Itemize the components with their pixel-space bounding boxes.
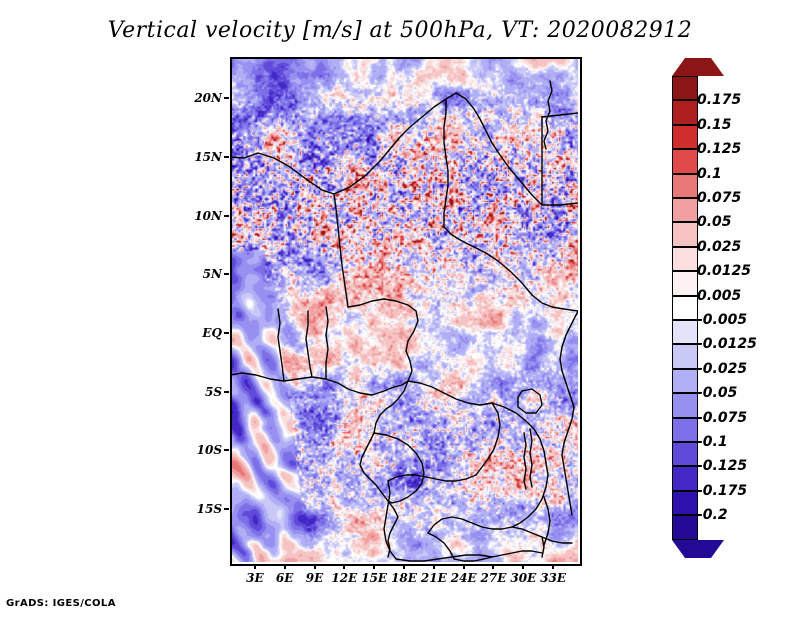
x-axis-tick xyxy=(343,564,345,569)
colorbar-tick-label: 0.075 xyxy=(697,190,741,206)
y-axis-tick xyxy=(224,215,229,217)
colorbar-band xyxy=(672,198,698,222)
x-axis-tick-label: 24E xyxy=(451,571,477,585)
colorbar-tick-label: 0.0125 xyxy=(697,263,751,279)
y-axis-tick-label: 10N xyxy=(186,209,222,223)
x-axis-tick xyxy=(314,564,316,569)
colorbar-tick-label: 0.05 xyxy=(697,214,732,230)
y-axis-tick-label: 15N xyxy=(186,150,222,164)
x-axis-tick xyxy=(463,564,465,569)
colorbar-band xyxy=(672,296,698,320)
colorbar-tick-label: -0.075 xyxy=(697,410,747,426)
x-axis-tick-label: 18E xyxy=(391,571,417,585)
colorbar-tick-label: 0.025 xyxy=(697,239,741,255)
colorbar-band xyxy=(672,174,698,198)
y-axis-tick xyxy=(224,449,229,451)
colorbar-band xyxy=(672,369,698,393)
colorbar-tick-label: 0.1 xyxy=(697,166,722,182)
y-axis-tick-label: 15S xyxy=(186,502,222,516)
colorbar-band xyxy=(672,320,698,344)
colorbar-band xyxy=(672,76,698,100)
y-axis-tick xyxy=(224,156,229,158)
x-axis-tick xyxy=(522,564,524,569)
map-plot-area xyxy=(230,57,578,562)
colorbar-band xyxy=(672,491,698,515)
x-axis-tick xyxy=(552,564,554,569)
colorbar-tick-label: -0.025 xyxy=(697,361,747,377)
colorbar-band xyxy=(672,442,698,466)
x-axis-tick-label: 21E xyxy=(421,571,447,585)
x-axis-tick-label: 15E xyxy=(361,571,387,585)
y-axis-tick xyxy=(224,97,229,99)
colorbar-band xyxy=(672,125,698,149)
colorbar-band xyxy=(672,271,698,295)
colorbar-tick-label: -0.05 xyxy=(697,385,737,401)
x-axis-tick-label: 27E xyxy=(481,571,507,585)
x-axis-tick xyxy=(492,564,494,569)
colorbar-over-arrow xyxy=(672,58,724,76)
y-axis-tick xyxy=(224,332,229,334)
colorbar-tick-label: 0.005 xyxy=(697,288,741,304)
colorbar-band xyxy=(672,515,698,539)
y-axis-tick xyxy=(224,273,229,275)
y-axis-tick-label: 10S xyxy=(186,443,222,457)
colorbar-tick-label: -0.2 xyxy=(697,507,728,523)
colorbar-band xyxy=(672,247,698,271)
colorbar-band xyxy=(672,222,698,246)
colorbar-band xyxy=(672,149,698,173)
colorbar-band xyxy=(672,344,698,368)
x-axis-tick-label: 30E xyxy=(510,571,536,585)
colorbar-tick-label: -0.1 xyxy=(697,434,728,450)
x-axis-tick-label: 9E xyxy=(306,571,324,585)
x-axis-tick xyxy=(433,564,435,569)
x-axis-tick xyxy=(403,564,405,569)
x-axis-tick-label: 6E xyxy=(276,571,294,585)
x-axis-tick xyxy=(254,564,256,569)
colorbar-tick-label: 0.175 xyxy=(697,92,741,108)
x-axis-tick-label: 3E xyxy=(246,571,264,585)
colorbar-tick-label: -0.005 xyxy=(697,312,747,328)
colorbar-tick-label: -0.125 xyxy=(697,458,747,474)
page-title: Vertical velocity [m/s] at 500hPa, VT: 2… xyxy=(0,18,800,43)
x-axis-tick xyxy=(284,564,286,569)
colorbar-band xyxy=(672,100,698,124)
country-borders-overlay xyxy=(230,57,578,562)
y-axis-tick xyxy=(224,508,229,510)
y-axis-tick-label: EQ xyxy=(186,326,222,340)
colorbar-tick-label: -0.175 xyxy=(697,483,747,499)
y-axis-tick-label: 20N xyxy=(186,91,222,105)
y-axis-tick-label: 5N xyxy=(186,267,222,281)
y-axis-tick xyxy=(224,391,229,393)
grads-attribution: GrADS: IGES/COLA xyxy=(6,598,116,609)
colorbar-tick-label: 0.125 xyxy=(697,141,741,157)
colorbar-under-arrow xyxy=(672,540,724,558)
colorbar-tick-label: 0.15 xyxy=(697,117,732,133)
colorbar-band xyxy=(672,393,698,417)
colorbar-band xyxy=(672,418,698,442)
colorbar-band xyxy=(672,466,698,490)
x-axis-tick-label: 33E xyxy=(540,571,566,585)
y-axis-tick-label: 5S xyxy=(186,385,222,399)
colorbar-tick-label: -0.0125 xyxy=(697,336,757,352)
x-axis-tick xyxy=(373,564,375,569)
x-axis-tick-label: 12E xyxy=(331,571,357,585)
